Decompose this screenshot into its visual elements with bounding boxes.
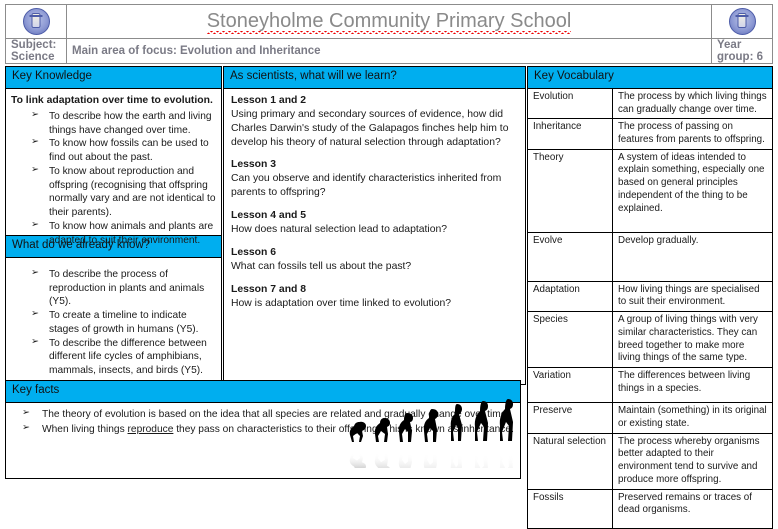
vocab-term: Natural selection (528, 433, 613, 489)
vocab-term: Evolution (528, 88, 613, 118)
vocab-term: Evolve (528, 232, 613, 281)
page-title-text: Stoneyholme Community Primary School (207, 10, 572, 33)
vocabulary-heading: Key Vocabulary (527, 66, 773, 89)
vocabulary-panel: Key Vocabulary Evolution The process by … (527, 66, 773, 490)
lesson-text: Can you observe and identify characteris… (231, 172, 518, 200)
scientists-body: Lesson 1 and 2 Using primary and seconda… (224, 89, 525, 325)
vocab-definition: The process whereby organisms better ada… (613, 433, 773, 489)
table-row: Inheritance The process of passing on fe… (528, 119, 773, 149)
school-crest-icon (23, 8, 50, 35)
list-item: The theory of evolution is based on the … (12, 408, 514, 422)
lesson-text: Using primary and secondary sources of e… (231, 108, 518, 149)
school-crest-icon (729, 8, 756, 35)
already-know-list: To describe the process of reproduction … (11, 268, 216, 378)
lesson-title: Lesson 1 and 2 (231, 94, 518, 108)
list-item: To create a timeline to indicate stages … (11, 309, 216, 337)
vocab-definition: The process of passing on features from … (613, 119, 773, 149)
key-facts-list: The theory of evolution is based on the … (12, 408, 514, 437)
vocab-term: Preserve (528, 403, 613, 433)
list-item: To know how fossils can be used to find … (11, 137, 216, 165)
vocab-term: Inheritance (528, 119, 613, 149)
table-row: Adaptation How living things are special… (528, 281, 773, 311)
logo-cell-left (6, 5, 67, 39)
key-fact-text: The theory of evolution is based on the … (42, 409, 509, 420)
lesson-text: What can fossils tell us about the past? (231, 260, 518, 274)
already-know-body: To describe the process of reproduction … (6, 258, 221, 382)
vocabulary-table: Evolution The process by which living th… (527, 88, 773, 529)
lesson-block: Lesson 1 and 2 Using primary and seconda… (231, 94, 518, 150)
vocab-definition: The differences between living things in… (613, 368, 773, 403)
table-row: Evolution The process by which living th… (528, 88, 773, 118)
page-title: Stoneyholme Community Primary School (67, 5, 712, 39)
lesson-text: How does natural selection lead to adapt… (231, 223, 518, 237)
lesson-title: Lesson 7 and 8 (231, 283, 518, 297)
logo-cell-right (712, 5, 773, 39)
lesson-block: Lesson 4 and 5 How does natural selectio… (231, 209, 518, 237)
vocab-definition: How living things are specialised to sui… (613, 281, 773, 311)
table-row: Preserve Maintain (something) in its ori… (528, 403, 773, 433)
already-know-panel: What do we already know? To describe the… (5, 235, 222, 384)
vocab-term: Variation (528, 368, 613, 403)
vocab-definition: Maintain (something) in its original or … (613, 403, 773, 433)
key-knowledge-lead: To link adaptation over time to evolutio… (11, 94, 216, 108)
lesson-title: Lesson 4 and 5 (231, 209, 518, 223)
key-facts-panel: Key facts The theory of evolution is bas… (5, 380, 521, 479)
year-group-field: Year group: 6 (712, 39, 773, 64)
header-meta-row: Subject: Science Main area of focus: Evo… (6, 39, 773, 64)
vocab-definition: Develop gradually. (613, 232, 773, 281)
table-row: Fossils Preserved remains or traces of d… (528, 489, 773, 528)
vocab-definition: A group of living things with very simil… (613, 312, 773, 368)
key-fact-underlined-term: reproduce (128, 424, 174, 435)
header-title-row: Stoneyholme Community Primary School (6, 5, 773, 39)
lesson-title: Lesson 6 (231, 246, 518, 260)
list-item: When living things reproduce they pass o… (12, 423, 514, 437)
key-knowledge-body: To link adaptation over time to evolutio… (6, 89, 221, 252)
key-knowledge-panel: Key Knowledge To link adaptation over ti… (5, 66, 222, 236)
document-header: Stoneyholme Community Primary School Sub… (5, 4, 773, 64)
table-row: Evolve Develop gradually. (528, 232, 773, 281)
key-fact-text-before: When living things (42, 424, 128, 435)
key-knowledge-list: To describe how the earth and living thi… (11, 110, 216, 248)
lesson-text: How is adaptation over time linked to ev… (231, 297, 518, 311)
lesson-title: Lesson 3 (231, 158, 518, 172)
subject-field: Subject: Science (6, 39, 67, 64)
vocab-definition: A system of ideas intended to explain so… (613, 149, 773, 232)
table-row: Variation The differences between living… (528, 368, 773, 403)
lesson-block: Lesson 3 Can you observe and identify ch… (231, 158, 518, 200)
list-item: To describe how the earth and living thi… (11, 110, 216, 138)
lesson-block: Lesson 6 What can fossils tell us about … (231, 246, 518, 274)
list-item: To know how animals and plants are adapt… (11, 220, 216, 248)
list-item: To describe the difference between diffe… (11, 337, 216, 378)
table-row: Species A group of living things with ve… (528, 312, 773, 368)
scientists-panel: As scientists, what will we learn? Lesso… (223, 66, 526, 385)
list-item: To know about reproduction and offspring… (11, 165, 216, 220)
focus-field: Main area of focus: Evolution and Inheri… (67, 39, 712, 64)
right-column: Key Vocabulary Evolution The process by … (527, 66, 773, 490)
vocab-term: Adaptation (528, 281, 613, 311)
lesson-block: Lesson 7 and 8 How is adaptation over ti… (231, 283, 518, 311)
vocab-term: Species (528, 312, 613, 368)
table-row: Theory A system of ideas intended to exp… (528, 149, 773, 232)
vocab-term: Fossils (528, 489, 613, 528)
knowledge-organiser-page: Stoneyholme Community Primary School Sub… (0, 0, 778, 485)
list-item: To describe the process of reproduction … (11, 268, 216, 309)
vocab-definition: The process by which living things can g… (613, 88, 773, 118)
key-facts-heading: Key facts (6, 381, 520, 403)
scientists-heading: As scientists, what will we learn? (224, 67, 525, 89)
key-fact-text-after: they pass on characteristics to their of… (173, 424, 514, 435)
key-knowledge-heading: Key Knowledge (6, 67, 221, 89)
table-row: Natural selection The process whereby or… (528, 433, 773, 489)
vocab-definition: Preserved remains or traces of dead orga… (613, 489, 773, 528)
key-facts-body: The theory of evolution is based on the … (6, 403, 520, 443)
vocab-term: Theory (528, 149, 613, 232)
